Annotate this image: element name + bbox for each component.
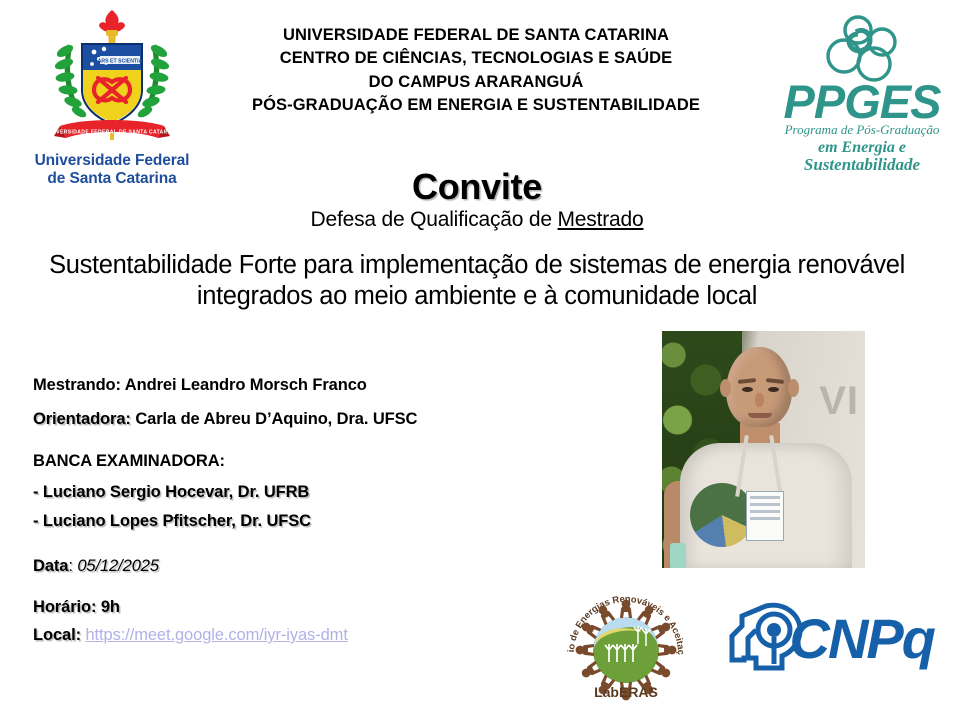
svg-text:ARS ET SCIENTIA: ARS ET SCIENTIA: [98, 58, 143, 64]
banca-member: - Luciano Sergio Hocevar, Dr. UFRB: [33, 483, 309, 502]
institution-line-2: CENTRO DE CIÊNCIAS, TECNOLOGIAS E SAÚDE: [186, 47, 766, 70]
horario-value: 9h: [101, 598, 120, 616]
photo-ear-right: [788, 379, 799, 397]
data-separator: :: [68, 557, 72, 575]
data-label: Data: [33, 557, 68, 575]
subtitle-prefix: Defesa de Qualificação de: [311, 208, 558, 231]
institution-line-4: PÓS-GRADUAÇÃO EM ENERGIA E SUSTENTABILID…: [186, 94, 766, 117]
photo-ear-left: [720, 379, 731, 397]
orientadora-label: Orientadora:: [33, 410, 131, 428]
meet-link[interactable]: https://meet.google.com/iyr-iyas-dmt: [85, 626, 347, 644]
candidate-photo: VI: [662, 331, 865, 568]
local-line: Local: https://meet.google.com/iyr-iyas-…: [33, 626, 348, 645]
ufsc-logo: ARS ET SCIENTIA UNIVERSIDADE FEDERAL DE …: [14, 6, 210, 184]
data-value: 05/12/2025: [77, 557, 159, 575]
ppges-tagline-1: Programa de Pós-Graduação: [784, 122, 940, 137]
ppges-logo: PPGES Programa de Pós-Graduação em Energ…: [782, 12, 942, 174]
page-subtitle: Defesa de Qualificação de Mestrado: [0, 208, 954, 232]
data-line: Data: 05/12/2025: [33, 557, 159, 576]
mestrando-label: Mestrando:: [33, 376, 121, 394]
photo-bottle: [670, 543, 686, 568]
institution-header: UNIVERSIDADE FEDERAL DE SANTA CATARINA C…: [186, 24, 766, 118]
horario-label: Horário:: [33, 598, 96, 616]
local-label: Local:: [33, 626, 81, 644]
photo-mouth: [748, 413, 772, 418]
photo-nose: [755, 393, 764, 407]
orientadora-line: Orientadora: Carla de Abreu D’Aquino, Dr…: [33, 410, 417, 429]
photo-shirt-print: [690, 483, 754, 547]
photo-badge: [746, 491, 784, 541]
institution-line-1: UNIVERSIDADE FEDERAL DE SANTA CATARINA: [186, 24, 766, 47]
ufsc-coat-of-arms-icon: ARS ET SCIENTIA UNIVERSIDADE FEDERAL DE …: [42, 6, 182, 152]
svg-text:UNIVERSIDADE FEDERAL DE SANTA: UNIVERSIDADE FEDERAL DE SANTA CATARINA: [46, 130, 177, 136]
banca-member: - Luciano Lopes Pfitscher, Dr. UFSC: [33, 512, 311, 531]
photo-eye-left: [742, 387, 753, 392]
cnpq-wordmark: CNPq: [790, 607, 936, 670]
mestrando-line: Mestrando: Andrei Leandro Morsch Franco: [33, 376, 367, 395]
thesis-title: Sustentabilidade Forte para implementaçã…: [28, 250, 926, 312]
cnpq-logo: CNPq: [722, 600, 938, 674]
orientadora-name: Carla de Abreu D’Aquino, Dra. UFSC: [135, 410, 417, 428]
photo-eye-right: [768, 387, 779, 392]
horario-line: Horário: 9h: [33, 598, 120, 617]
invitation-poster: ARS ET SCIENTIA UNIVERSIDADE FEDERAL DE …: [0, 0, 954, 711]
mestrando-name: Andrei Leandro Morsch Franco: [125, 376, 367, 394]
svg-text:PPGES: PPGES: [784, 75, 942, 128]
institution-line-3: DO CAMPUS ARARANGUÁ: [186, 71, 766, 94]
ppges-tagline-2: em Energia e: [818, 139, 906, 156]
laberas-acronym: LabERAS: [564, 684, 688, 700]
photo-backdrop-text: VI: [819, 379, 859, 424]
subtitle-degree: Mestrado: [558, 208, 644, 231]
page-title: Convite: [0, 166, 954, 208]
banca-label: BANCA EXAMINADORA:: [33, 452, 225, 471]
